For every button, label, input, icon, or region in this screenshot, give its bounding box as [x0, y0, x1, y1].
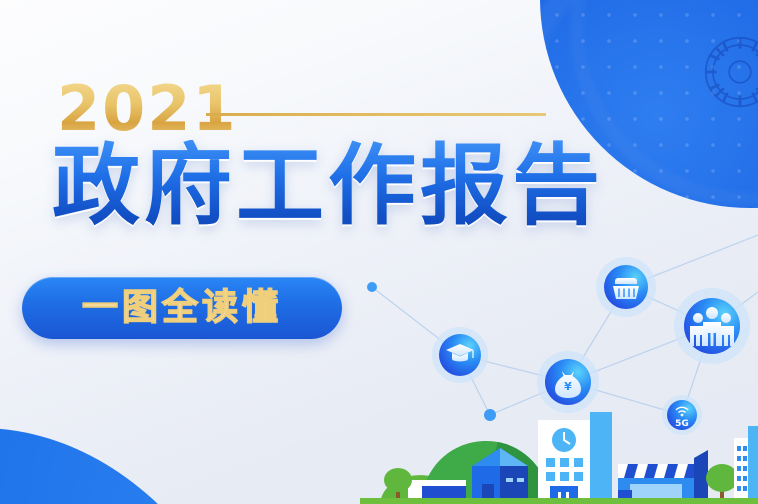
- network-node-employment[interactable]: [674, 288, 750, 364]
- factory-window: [517, 478, 524, 482]
- shopping-basket-icon: [613, 278, 639, 299]
- read-all-button[interactable]: 一图全读懂: [22, 277, 342, 339]
- ground-strip: [360, 498, 758, 504]
- shop-window: [630, 484, 682, 498]
- awning-stripes: [618, 464, 694, 478]
- bottom-left-arc-decoration: [0, 428, 290, 504]
- network-node-education[interactable]: [432, 327, 488, 383]
- tall-office-building: [748, 426, 758, 504]
- factory-window: [506, 478, 513, 482]
- network-dot: [367, 282, 377, 292]
- tree-canopy: [384, 468, 412, 492]
- year-label: 2021: [57, 78, 238, 140]
- svg-text:¥: ¥: [564, 380, 572, 393]
- tree-canopy: [706, 464, 738, 492]
- page-title: 政府工作报告: [52, 140, 604, 232]
- read-all-button-label: 一图全读懂: [82, 290, 282, 326]
- gold-divider-line: [206, 113, 546, 116]
- gear-icon: [686, 18, 758, 126]
- tower-annex: [590, 412, 612, 504]
- city-skyline-illustration: [360, 398, 758, 504]
- infographic-banner: 2021 政府工作报告 一图全读懂: [0, 0, 758, 504]
- shop-side-block: [694, 450, 708, 504]
- network-node-consumption[interactable]: [596, 257, 656, 317]
